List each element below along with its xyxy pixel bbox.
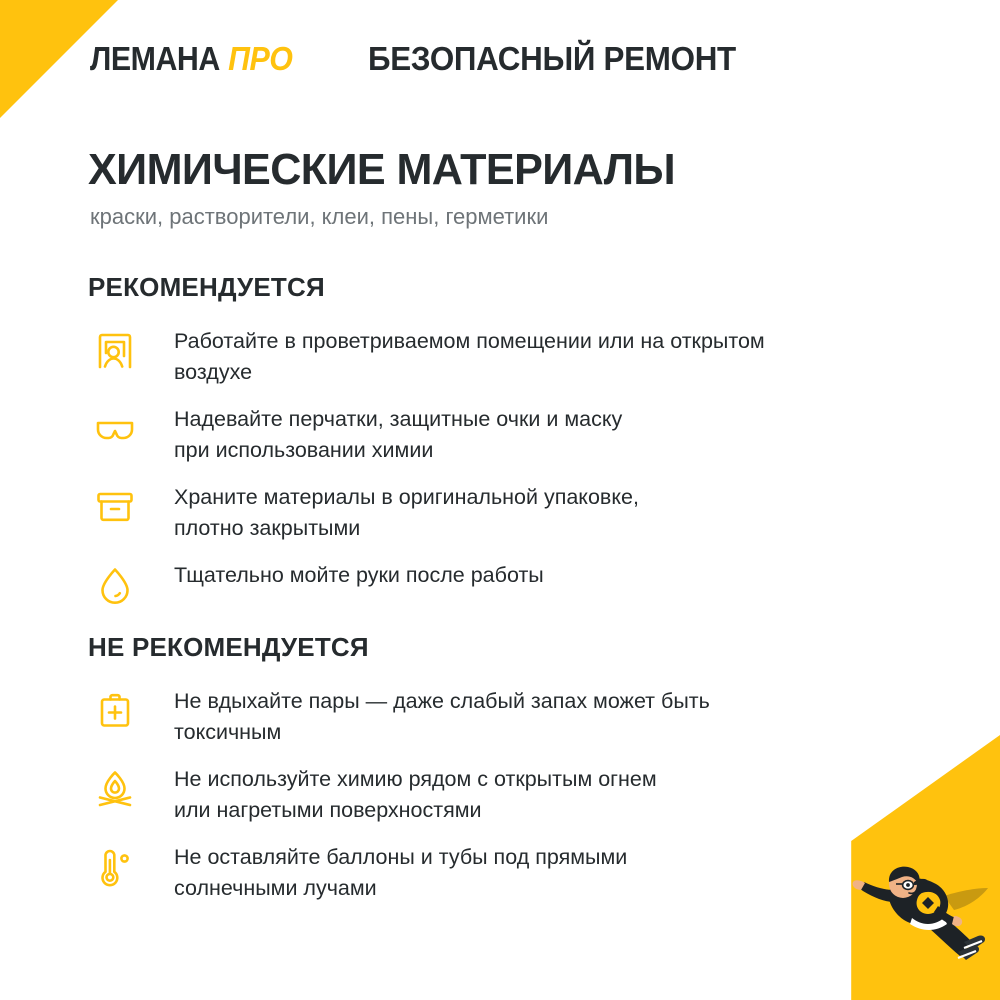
list-item-text: Тщательно мойте руки после работы (142, 558, 544, 591)
storage-box-icon (88, 480, 142, 532)
list-item: Тщательно мойте руки после работы (88, 558, 888, 610)
list-item-text: Не вдыхайте пары — даже слабый запах мож… (142, 684, 710, 748)
thermometer-icon (88, 840, 142, 892)
not-recommended-list: Не вдыхайте пары — даже слабый запах мож… (88, 684, 888, 918)
header-title: БЕЗОПАСНЫЙ РЕМОНТ (368, 40, 736, 78)
list-item: Не вдыхайте пары — даже слабый запах мож… (88, 684, 888, 748)
page-subtitle: краски, растворители, клеи, пены, гермет… (90, 204, 548, 230)
page-title: ХИМИЧЕСКИЕ МАТЕРИАЛЫ (88, 145, 675, 195)
section-heading-not-recommended: НЕ РЕКОМЕНДУЕТСЯ (88, 632, 369, 663)
brand-logo: ЛЕМАНАПРО (90, 40, 292, 78)
list-item: Надевайте перчатки, защитные очки и маск… (88, 402, 888, 466)
list-item: Храните материалы в оригинальной упаковк… (88, 480, 888, 544)
first-aid-kit-icon (88, 684, 142, 736)
list-item: Не используйте химию рядом с открытым ог… (88, 762, 888, 826)
water-drop-icon (88, 558, 142, 610)
section-heading-recommended: РЕКОМЕНДУЕТСЯ (88, 272, 325, 303)
brand-logo-pro: ПРО (228, 40, 292, 77)
person-in-window-icon (88, 324, 142, 376)
recommended-list: Работайте в проветриваемом помещении или… (88, 324, 888, 624)
list-item-text: Не используйте химию рядом с открытым ог… (142, 762, 657, 826)
brand-logo-main: ЛЕМАНА (90, 40, 220, 77)
list-item-text: Работайте в проветриваемом помещении или… (142, 324, 765, 388)
list-item-text: Храните материалы в оригинальной упаковк… (142, 480, 639, 544)
list-item: Работайте в проветриваемом помещении или… (88, 324, 888, 388)
safety-goggles-icon (88, 402, 142, 454)
list-item-text: Надевайте перчатки, защитные очки и маск… (142, 402, 622, 466)
poster-canvas: ЛЕМАНАПРО БЕЗОПАСНЫЙ РЕМОНТ ХИМИЧЕСКИЕ М… (0, 0, 1000, 1000)
flying-superhero-mascot (852, 862, 1000, 982)
campfire-icon (88, 762, 142, 814)
list-item: Не оставляйте баллоны и тубы под прямыми… (88, 840, 888, 904)
poster-header: ЛЕМАНАПРО БЕЗОПАСНЫЙ РЕМОНТ (90, 40, 755, 78)
list-item-text: Не оставляйте баллоны и тубы под прямыми… (142, 840, 627, 904)
